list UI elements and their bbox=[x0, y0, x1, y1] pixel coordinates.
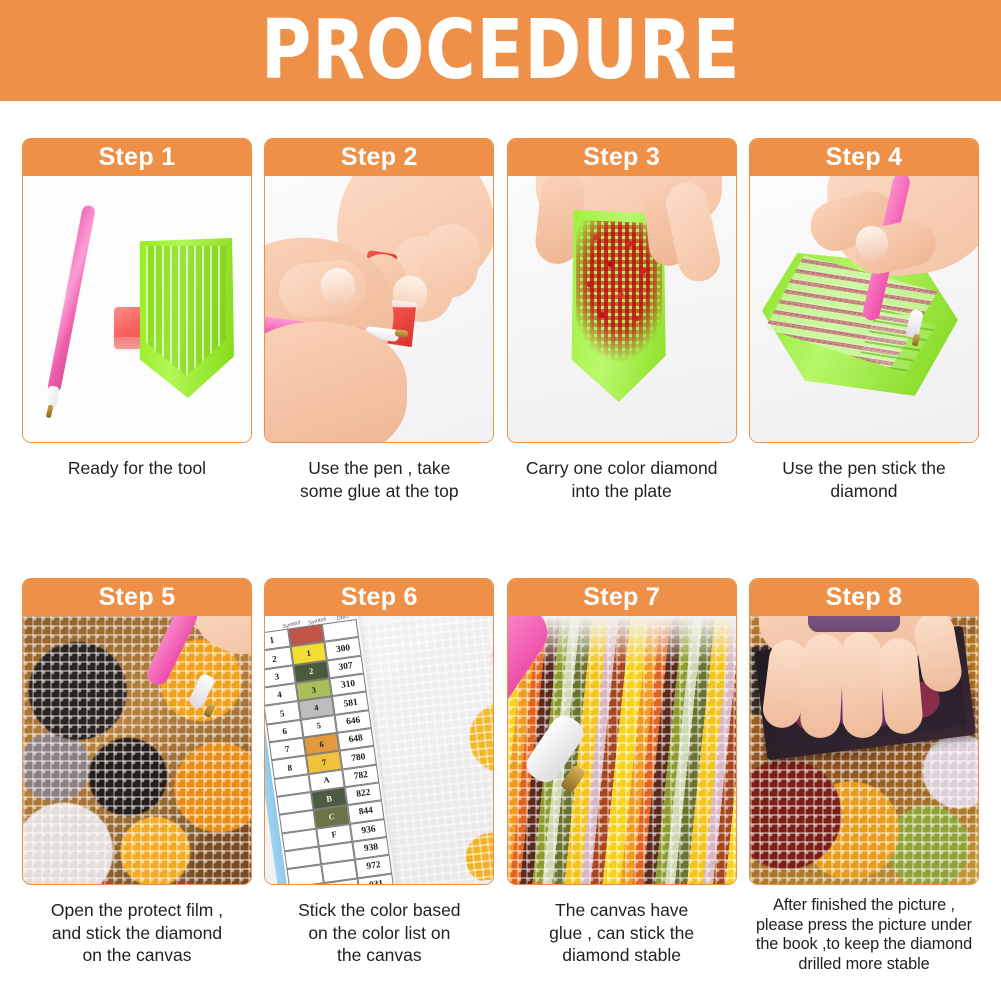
caption-line: The canvas have bbox=[507, 899, 737, 922]
step-card-6[interactable]: Step 6 SymbolSymbolDMC121300323074331054… bbox=[264, 578, 494, 974]
step-8-header: Step 8 bbox=[749, 578, 979, 616]
step-4-caption: Use the pen stick the diamond bbox=[749, 443, 979, 502]
steps-grid: Step 1 Ready for the bbox=[0, 101, 1001, 1001]
caption-line: Use the pen stick the bbox=[749, 457, 979, 480]
step-5-header-label: Step 5 bbox=[99, 584, 176, 610]
step-8-photo-press-book bbox=[750, 616, 978, 884]
step-3-header: Step 3 bbox=[507, 138, 737, 176]
step-3-photo-tray-diamonds bbox=[508, 176, 736, 442]
caption-line: and stick the diamond bbox=[22, 922, 252, 945]
step-3-header-label: Step 3 bbox=[583, 144, 660, 170]
pen-nib-icon bbox=[560, 764, 586, 793]
steps-row-1: Step 1 Ready for the bbox=[0, 138, 1001, 502]
caption-line: the book ,to keep the diamond bbox=[749, 935, 979, 955]
step-4-body bbox=[750, 176, 978, 442]
step-2-card-frame: Step 2 bbox=[264, 138, 494, 443]
step-6-card-frame: Step 6 SymbolSymbolDMC121300323074331054… bbox=[264, 578, 494, 885]
step-7-header-label: Step 7 bbox=[583, 584, 660, 610]
step-card-5[interactable]: Step 5 Open the protect film , and stick… bbox=[22, 578, 252, 974]
step-3-card-frame: Step 3 bbox=[507, 138, 737, 443]
caption-line: After finished the picture , bbox=[749, 896, 979, 916]
step-5-body bbox=[23, 616, 251, 884]
step-2-caption: Use the pen , take some glue at the top bbox=[264, 443, 494, 502]
step-5-card-frame: Step 5 bbox=[22, 578, 252, 885]
step-2-header-label: Step 2 bbox=[341, 144, 418, 170]
caption-line: on the canvas bbox=[22, 944, 252, 967]
sleeve-icon bbox=[808, 616, 900, 632]
page-banner: PROCEDURE bbox=[0, 0, 1001, 101]
step-8-caption: After finished the picture , please pres… bbox=[749, 885, 979, 974]
step-1-header: Step 1 bbox=[22, 138, 252, 176]
step-8-body bbox=[750, 616, 978, 884]
step-6-caption: Stick the color based on the color list … bbox=[264, 885, 494, 967]
step-5-header: Step 5 bbox=[22, 578, 252, 616]
step-card-8[interactable]: Step 8 bbox=[749, 578, 979, 974]
steps-row-2: Step 5 Open the protect film , and stick… bbox=[0, 578, 1001, 974]
step-1-body bbox=[23, 176, 251, 442]
caption-line: Carry one color diamond bbox=[507, 457, 737, 480]
step-5-photo-canvas-pen bbox=[23, 616, 251, 884]
caption-line: on the color list on bbox=[264, 922, 494, 945]
finger-icon bbox=[841, 632, 883, 739]
step-card-7[interactable]: Step 7 The canvas have glue , can stick … bbox=[507, 578, 737, 974]
step-card-1[interactable]: Step 1 Ready for the bbox=[22, 138, 252, 502]
step-1-photo-tools bbox=[23, 176, 251, 442]
bead-grid-texture bbox=[23, 616, 251, 884]
step-6-body: SymbolSymbolDMC1213003230743310545816564… bbox=[265, 616, 493, 884]
step-3-caption: Carry one color diamond into the plate bbox=[507, 443, 737, 502]
caption-line: Ready for the tool bbox=[22, 457, 252, 480]
step-8-header-label: Step 8 bbox=[826, 584, 903, 610]
step-7-body bbox=[508, 616, 736, 884]
caption-line: Open the protect film , bbox=[22, 899, 252, 922]
step-1-card-frame: Step 1 bbox=[22, 138, 252, 443]
page-title: PROCEDURE bbox=[261, 8, 740, 94]
step-1-caption: Ready for the tool bbox=[22, 443, 252, 480]
step-4-photo-pick-diamond bbox=[750, 176, 978, 442]
step-card-3[interactable]: Step 3 Carry one color diamond into the … bbox=[507, 138, 737, 502]
chart-cell-index bbox=[287, 865, 324, 884]
pink-pen-icon bbox=[143, 616, 200, 688]
step-card-4[interactable]: Step 4 bbox=[749, 138, 979, 502]
step-1-header-label: Step 1 bbox=[99, 144, 176, 170]
step-2-header: Step 2 bbox=[264, 138, 494, 176]
finger-icon bbox=[799, 633, 844, 739]
pen-nib-icon bbox=[395, 329, 409, 338]
step-2-body bbox=[265, 176, 493, 442]
pen-nib-icon bbox=[46, 404, 54, 418]
step-8-card-frame: Step 8 bbox=[749, 578, 979, 885]
step-5-caption: Open the protect film , and stick the di… bbox=[22, 885, 252, 967]
step-4-header: Step 4 bbox=[749, 138, 979, 176]
pink-pen-icon bbox=[47, 205, 96, 394]
caption-line: into the plate bbox=[507, 480, 737, 503]
step-6-photo-color-chart: SymbolSymbolDMC1213003230743310545816564… bbox=[265, 616, 493, 884]
pen-tip-group bbox=[42, 385, 61, 419]
step-3-body bbox=[508, 176, 736, 442]
step-7-caption: The canvas have glue , can stick the dia… bbox=[507, 885, 737, 967]
hand-icon bbox=[193, 616, 251, 654]
step-4-header-label: Step 4 bbox=[826, 144, 903, 170]
step-4-card-frame: Step 4 bbox=[749, 138, 979, 443]
caption-line: Stick the color based bbox=[264, 899, 494, 922]
caption-line: glue , can stick the bbox=[507, 922, 737, 945]
step-card-2[interactable]: Step 2 bbox=[264, 138, 494, 502]
caption-line: drilled more stable bbox=[749, 955, 979, 975]
caption-line: the canvas bbox=[264, 944, 494, 967]
step-6-header-label: Step 6 bbox=[341, 584, 418, 610]
step-6-header: Step 6 bbox=[264, 578, 494, 616]
caption-line: diamond stable bbox=[507, 944, 737, 967]
step-7-photo-drills-macro bbox=[508, 616, 736, 884]
caption-line: some glue at the top bbox=[264, 480, 494, 503]
pen-nib-icon bbox=[204, 703, 216, 718]
step-7-card-frame: Step 7 bbox=[507, 578, 737, 885]
caption-line: Use the pen , take bbox=[264, 457, 494, 480]
step-7-header: Step 7 bbox=[507, 578, 737, 616]
caption-line: please press the picture under bbox=[749, 916, 979, 936]
caption-line: diamond bbox=[749, 480, 979, 503]
step-2-photo-pen-glue bbox=[265, 176, 493, 442]
